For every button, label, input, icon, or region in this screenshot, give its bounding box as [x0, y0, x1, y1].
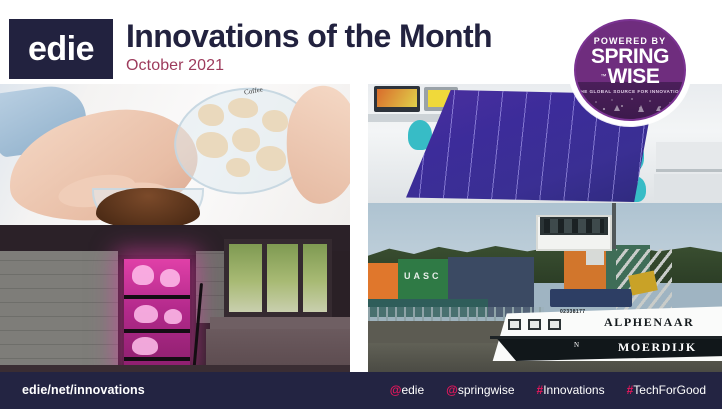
cell-culture-clump	[256, 146, 286, 171]
ship-name: ALPHENAAR	[604, 315, 694, 330]
social-tag-springwise[interactable]: @springwise	[446, 383, 514, 397]
page-title: Innovations of the Month	[126, 20, 492, 54]
badge-brand-wise: WISE	[607, 67, 659, 87]
mast	[612, 203, 616, 249]
edie-logo-text: edie	[28, 32, 94, 66]
social-tag-edie[interactable]: @edie	[390, 383, 424, 397]
footer-social-tags: @edie @springwise #Innovations #TechForG…	[390, 383, 706, 397]
social-tag-techforgood[interactable]: #TechForGood	[627, 383, 706, 397]
lab-table	[654, 174, 722, 200]
sparkle-decoration-icon	[576, 93, 686, 115]
container-brand-text: UASC	[404, 271, 442, 281]
hull-stripe	[490, 336, 722, 339]
plant	[164, 309, 182, 324]
cell-culture-clump	[226, 158, 250, 177]
badge-brand-spring: SPRING	[591, 47, 669, 67]
cell-culture-clump	[262, 110, 288, 132]
social-tag-label: edie	[401, 383, 424, 397]
cell-culture-clump	[232, 128, 260, 152]
social-tag-label: Innovations	[543, 383, 604, 397]
plant	[132, 265, 154, 285]
ship-registration-number: 02338177	[560, 309, 585, 315]
footer-site-url[interactable]: edie/net/innovations	[22, 383, 145, 397]
deck-tarpaulin	[550, 289, 632, 307]
vertical-farm-photo	[0, 225, 350, 372]
social-tag-label: TechForGood	[633, 383, 706, 397]
edie-logo[interactable]: edie	[9, 19, 113, 79]
image-lab-grown-coffee: Coffee	[0, 84, 350, 225]
monitor-screen	[377, 89, 417, 107]
coffee-photo: Coffee	[0, 84, 350, 225]
image-electric-barge: UASC 02338177 ALPHENAAR	[368, 203, 722, 372]
at-symbol-icon: @	[390, 383, 402, 397]
innovations-of-the-month-graphic: edie Innovations of the Month October 20…	[0, 0, 722, 409]
left-column: Coffee	[0, 84, 350, 372]
social-tag-label: springwise	[458, 383, 515, 397]
cell-culture-clump	[228, 98, 258, 118]
badge-inner-circle: POWERED BY SPRING ™ WISE THE GLOBAL SOUR…	[574, 19, 686, 121]
lab-table	[656, 142, 722, 172]
page-subtitle: October 2021	[126, 57, 492, 75]
porthole-window	[528, 319, 541, 330]
title-block: Innovations of the Month October 2021	[126, 20, 492, 75]
plant	[132, 337, 158, 355]
floor	[0, 365, 350, 372]
cell-culture-clump	[198, 104, 224, 126]
bow-mark: N	[574, 341, 579, 349]
cell-culture-clump	[196, 132, 228, 158]
badge-brand-wise-row: ™ WISE	[600, 67, 659, 87]
porthole-window	[548, 319, 561, 330]
footer: edie/net/innovations @edie @springwise #…	[0, 372, 722, 409]
window	[224, 239, 332, 317]
plant	[160, 269, 180, 287]
wheelhouse-crew	[544, 219, 604, 233]
springwise-badge[interactable]: POWERED BY SPRING ™ WISE THE GLOBAL SOUR…	[569, 14, 691, 126]
image-vertical-farm	[0, 225, 350, 372]
hash-symbol-icon: #	[627, 383, 634, 397]
plant	[134, 305, 158, 323]
shelf	[124, 329, 190, 333]
ship-home-port: MOERDIJK	[618, 340, 697, 355]
social-tag-innovations[interactable]: #Innovations	[537, 383, 605, 397]
window-mullion	[262, 239, 267, 317]
window-mullion	[298, 239, 303, 317]
shelf	[124, 357, 190, 361]
air-conditioner-unit	[586, 251, 604, 265]
shelf	[124, 295, 190, 299]
at-symbol-icon: @	[446, 383, 458, 397]
image-grid: Coffee	[0, 84, 722, 372]
porthole-window	[508, 319, 521, 330]
right-column: UASC 02338177 ALPHENAAR	[368, 84, 722, 372]
trademark-icon: ™	[600, 75, 606, 81]
barge-photo: UASC 02338177 ALPHENAAR	[368, 203, 722, 372]
hash-symbol-icon: #	[537, 383, 544, 397]
